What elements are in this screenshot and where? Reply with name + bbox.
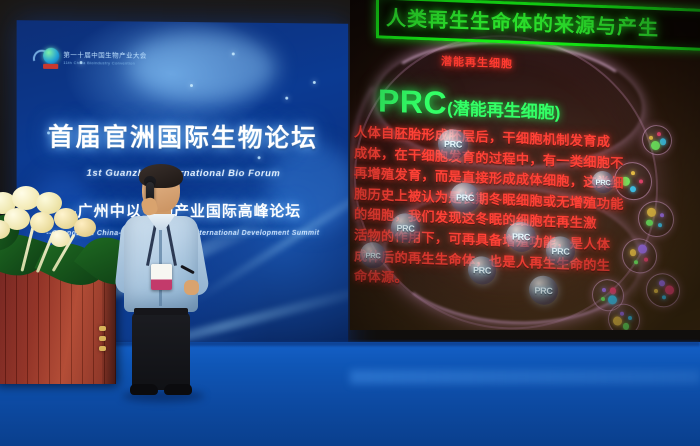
conference-photo-scene: 第一十届中国生物产业大会 11th China Bioindustry Conv… — [0, 0, 700, 446]
speaker-person — [118, 168, 204, 400]
logo-mark — [33, 47, 59, 71]
logo-text-en: 11th China Bioindustry Convention — [63, 61, 146, 66]
flower-bloom — [74, 218, 96, 237]
flower-bloom — [30, 212, 54, 233]
projection-slide: 人类再生生命体的来源与产生 潜能再生细胞 PRC(潜能再生细胞) 人体自胚胎形成… — [350, 0, 700, 330]
podium-knob — [99, 326, 106, 331]
logo-text: 第一十届中国生物产业大会 11th China Bioindustry Conv… — [63, 53, 146, 66]
slide-vignette — [350, 0, 700, 330]
backdrop-sparkle — [313, 81, 316, 84]
flower-bloom — [50, 230, 70, 247]
backdrop-sparkle — [258, 156, 261, 159]
podium-knob — [99, 336, 106, 341]
badge-icon — [151, 264, 172, 290]
logo-text-cn: 第一十届中国生物产业大会 — [63, 53, 146, 60]
speaker-shoe-left — [130, 384, 158, 395]
speaker-hand-right — [184, 280, 199, 295]
speaker-belt — [134, 308, 188, 315]
backdrop-sparkle — [232, 52, 235, 55]
backdrop-sparkle — [190, 84, 193, 87]
convention-logo: 第一十届中国生物产业大会 11th China Bioindustry Conv… — [33, 47, 147, 72]
globe-icon — [43, 48, 59, 64]
backdrop-sparkle — [285, 97, 288, 100]
speaker-shoe-right — [164, 384, 192, 395]
floor-highlight — [350, 370, 700, 384]
speaker-trousers — [132, 312, 190, 390]
podium-knob — [99, 346, 106, 351]
banner-title-cn: 首届官洲国际生物论坛 — [17, 117, 349, 154]
backdrop-glow — [128, 31, 277, 102]
logo-accent-bar — [43, 64, 58, 69]
